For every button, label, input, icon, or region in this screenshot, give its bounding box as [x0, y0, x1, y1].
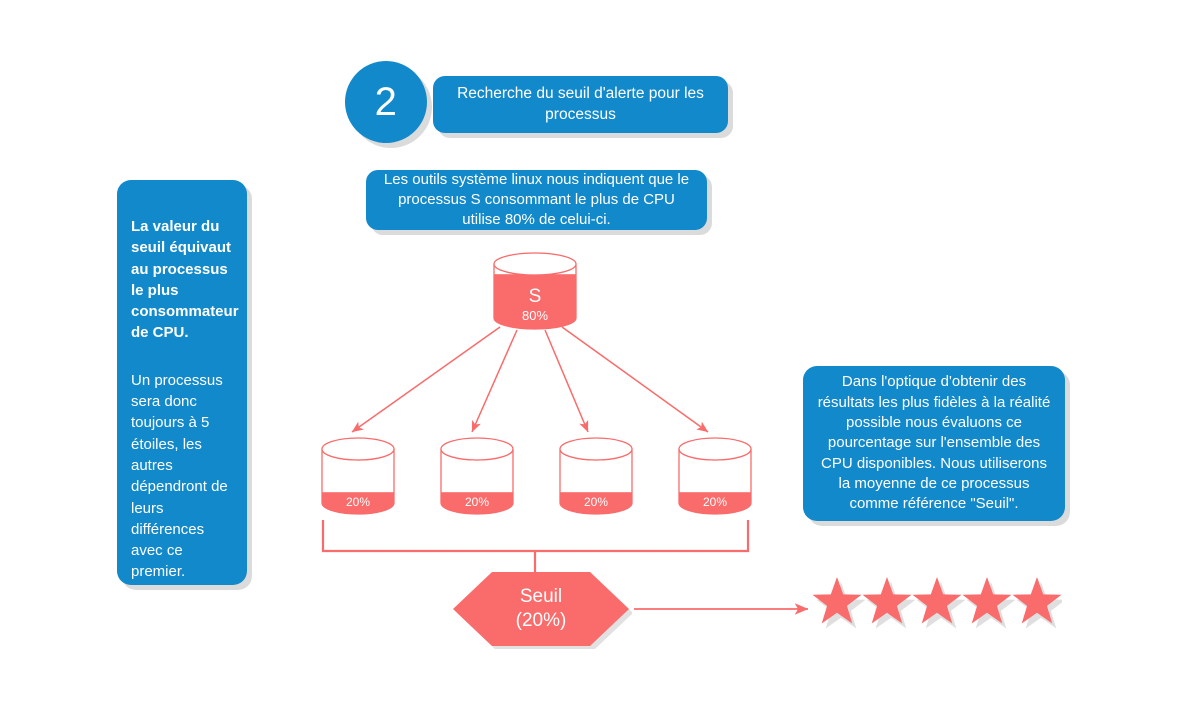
left-explanation-panel: La valeur du seuil équivaut au processus… [117, 180, 247, 585]
rating-stars [812, 576, 1062, 630]
source-process-cylinder: S 80% [492, 252, 578, 330]
hexagon-shape [450, 569, 632, 649]
cpu-cylinder: 20% [439, 437, 515, 515]
aggregation-bracket [323, 520, 748, 572]
star-icon-group [813, 577, 1063, 629]
right-explanation-panel: Dans l'optique d'obtenir des résultats l… [803, 366, 1065, 521]
threshold-hexagon: Seuil (20%) [450, 569, 632, 649]
fanout-arrows [352, 327, 708, 432]
left-panel-bold-text: La valeur du seuil équivaut au processus… [131, 216, 233, 344]
cpu-cylinder-shape [320, 437, 396, 515]
step-number-label: 2 [375, 80, 398, 125]
section-title-text: Recherche du seuil d'alerte pour les pro… [449, 84, 712, 125]
source-cylinder-shape [492, 252, 578, 330]
cpu-cylinder: 20% [558, 437, 634, 515]
cpu-cylinder: 20% [320, 437, 396, 515]
linux-tools-info-text: Les outils système linux nous indiquent … [378, 170, 695, 229]
cpu-cylinder: 20% [677, 437, 753, 515]
right-panel-text: Dans l'optique d'obtenir des résultats l… [815, 372, 1053, 515]
cpu-cylinder-shape [439, 437, 515, 515]
step-number-badge: 2 [345, 61, 427, 143]
cpu-cylinder-shape [558, 437, 634, 515]
stars-shape [812, 576, 1062, 630]
cpu-cylinder-shape [677, 437, 753, 515]
left-panel-normal-text: Un processus sera donc toujours à 5 étoi… [131, 370, 233, 583]
diagram-canvas: 2 Recherche du seuil d'alerte pour les p… [0, 0, 1178, 718]
linux-tools-info-box: Les outils système linux nous indiquent … [366, 170, 707, 230]
section-title-box: Recherche du seuil d'alerte pour les pro… [433, 76, 728, 133]
